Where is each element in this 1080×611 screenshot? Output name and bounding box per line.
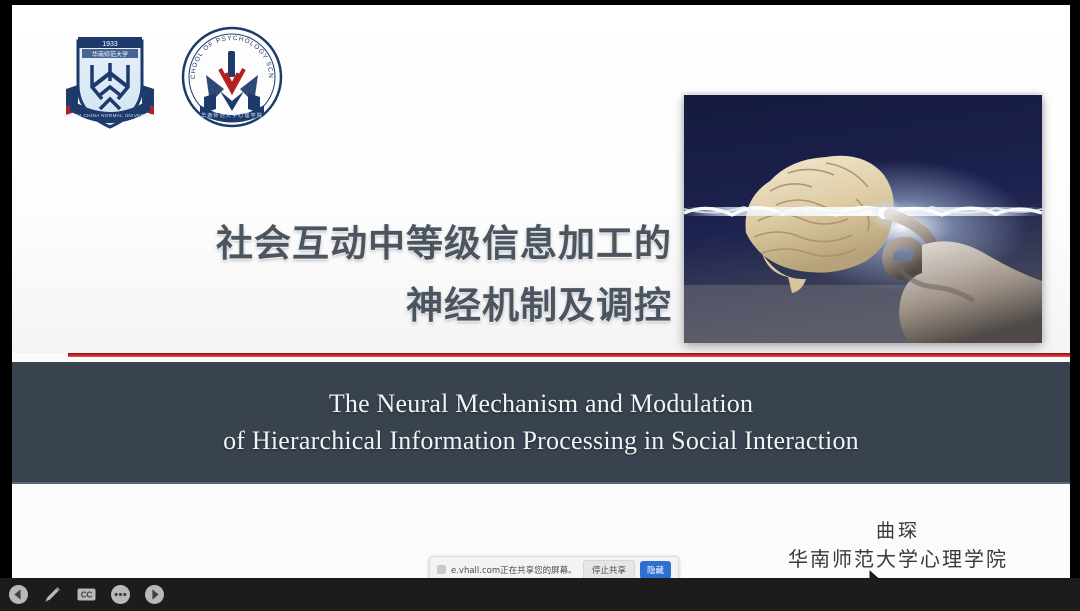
svg-text:SOUTH CHINA NORMAL UNIVERSITY: SOUTH CHINA NORMAL UNIVERSITY (64, 113, 157, 118)
subtitle-band: The Neural Mechanism and Modulation of H… (12, 362, 1070, 484)
next-slide-icon[interactable] (144, 584, 165, 605)
svg-text:1933: 1933 (102, 41, 118, 48)
subtitle-line-2: of Hierarchical Information Processing i… (223, 422, 859, 459)
more-options-icon[interactable] (110, 584, 131, 605)
letterbox-top (0, 0, 1080, 5)
title-line-2: 神经机制及调控 (132, 275, 672, 337)
brain-illustration-image (684, 95, 1042, 343)
letterbox-left (0, 0, 12, 578)
presenter-name: 曲琛 (788, 518, 1008, 544)
presenter-block: 曲琛 华南师范大学心理学院 (788, 518, 1008, 574)
stop-sharing-button[interactable]: 停止共享 (583, 560, 635, 579)
screen-share-viewport: 1933 华南师范大学 SOUTH CHINA NORMAL UNIVERSIT… (0, 0, 1080, 611)
annotate-pen-icon[interactable] (42, 584, 63, 605)
university-crest-logo: 1933 华南师范大学 SOUTH CHINA NORMAL UNIVERSIT… (62, 29, 158, 137)
title-line-1: 社会互动中等级信息加工的 (132, 213, 672, 275)
presenter-affiliation: 华南师范大学心理学院 (788, 544, 1008, 574)
school-of-psychology-seal-logo: SCHOOL OF PSYCHOLOGY SCNU 华南师范大学心理学院 (180, 25, 284, 129)
presentation-slide[interactable]: 1933 华南师范大学 SOUTH CHINA NORMAL UNIVERSIT… (12, 5, 1070, 578)
closed-captions-icon[interactable]: CC (76, 584, 97, 605)
red-divider-rule (68, 353, 1070, 357)
subtitle-line-1: The Neural Mechanism and Modulation (329, 385, 753, 422)
player-toolbar[interactable]: CC (0, 578, 1080, 611)
svg-text:华南师范大学: 华南师范大学 (92, 51, 128, 59)
page-subtitle-english: The Neural Mechanism and Modulation of H… (12, 362, 1070, 482)
svg-text:CC: CC (81, 591, 93, 600)
mouse-cursor (868, 568, 881, 578)
share-message-text: e.vhall.com正在共享您的屏幕。 (451, 564, 578, 576)
letterbox-right (1070, 0, 1080, 578)
screen-share-notification-bar[interactable]: e.vhall.com正在共享您的屏幕。 停止共享 隐藏 (429, 556, 679, 578)
share-status-icon (437, 565, 446, 574)
hide-notification-button[interactable]: 隐藏 (640, 561, 671, 579)
previous-slide-icon[interactable] (8, 584, 29, 605)
page-title-chinese: 社会互动中等级信息加工的 神经机制及调控 (132, 213, 672, 337)
svg-text:华南师范大学心理学院: 华南师范大学心理学院 (201, 111, 263, 119)
